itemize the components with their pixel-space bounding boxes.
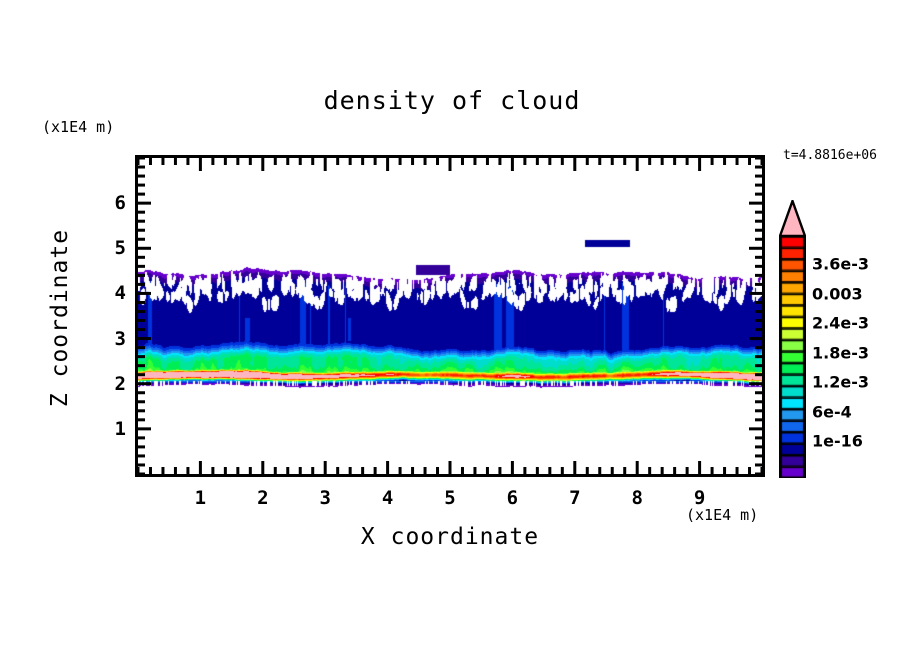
y-tick-label-5: 5 <box>100 237 126 259</box>
x-tick-label-3: 3 <box>319 487 330 509</box>
page-title: density of cloud <box>0 86 904 115</box>
colorbar-label-5: 6e-4 <box>812 403 852 422</box>
plot-frame <box>135 155 765 477</box>
colorbar-label-2: 2.4e-3 <box>812 314 869 333</box>
timestamp-annotation: t=4.8816e+06 <box>783 148 877 163</box>
x-axis-title: X coordinate <box>250 524 650 550</box>
x-tick-label-9: 9 <box>694 487 705 509</box>
figure-canvas: density of cloud (x1E4 m) (x1E4 m) t=4.8… <box>0 0 904 654</box>
x-tick-label-4: 4 <box>382 487 393 509</box>
y-tick-label-3: 3 <box>100 328 126 350</box>
y-tick-label-6: 6 <box>100 192 126 214</box>
y-axis-title: Z coordinate <box>47 198 73 438</box>
x-tick-label-2: 2 <box>257 487 268 509</box>
colorbar-label-3: 1.8e-3 <box>812 344 869 363</box>
colorbar-label-4: 1.2e-3 <box>812 373 869 392</box>
x-tick-label-8: 8 <box>631 487 642 509</box>
colorbar-overflow-arrow <box>779 200 806 237</box>
y-axis-unit-label: (x1E4 m) <box>42 118 114 136</box>
colorbar-label-1: 0.003 <box>812 285 863 304</box>
contour-field <box>138 158 762 474</box>
x-tick-label-5: 5 <box>444 487 455 509</box>
y-tick-label-1: 1 <box>100 418 126 440</box>
x-tick-label-7: 7 <box>569 487 580 509</box>
colorbar-label-0: 3.6e-3 <box>812 255 869 274</box>
x-tick-label-1: 1 <box>195 487 206 509</box>
x-tick-label-6: 6 <box>507 487 518 509</box>
colorbar <box>779 236 806 478</box>
colorbar-label-6: 1e-16 <box>812 432 863 451</box>
y-tick-label-4: 4 <box>100 282 126 304</box>
y-tick-label-2: 2 <box>100 373 126 395</box>
colorbar-arrow-shape <box>780 201 805 236</box>
